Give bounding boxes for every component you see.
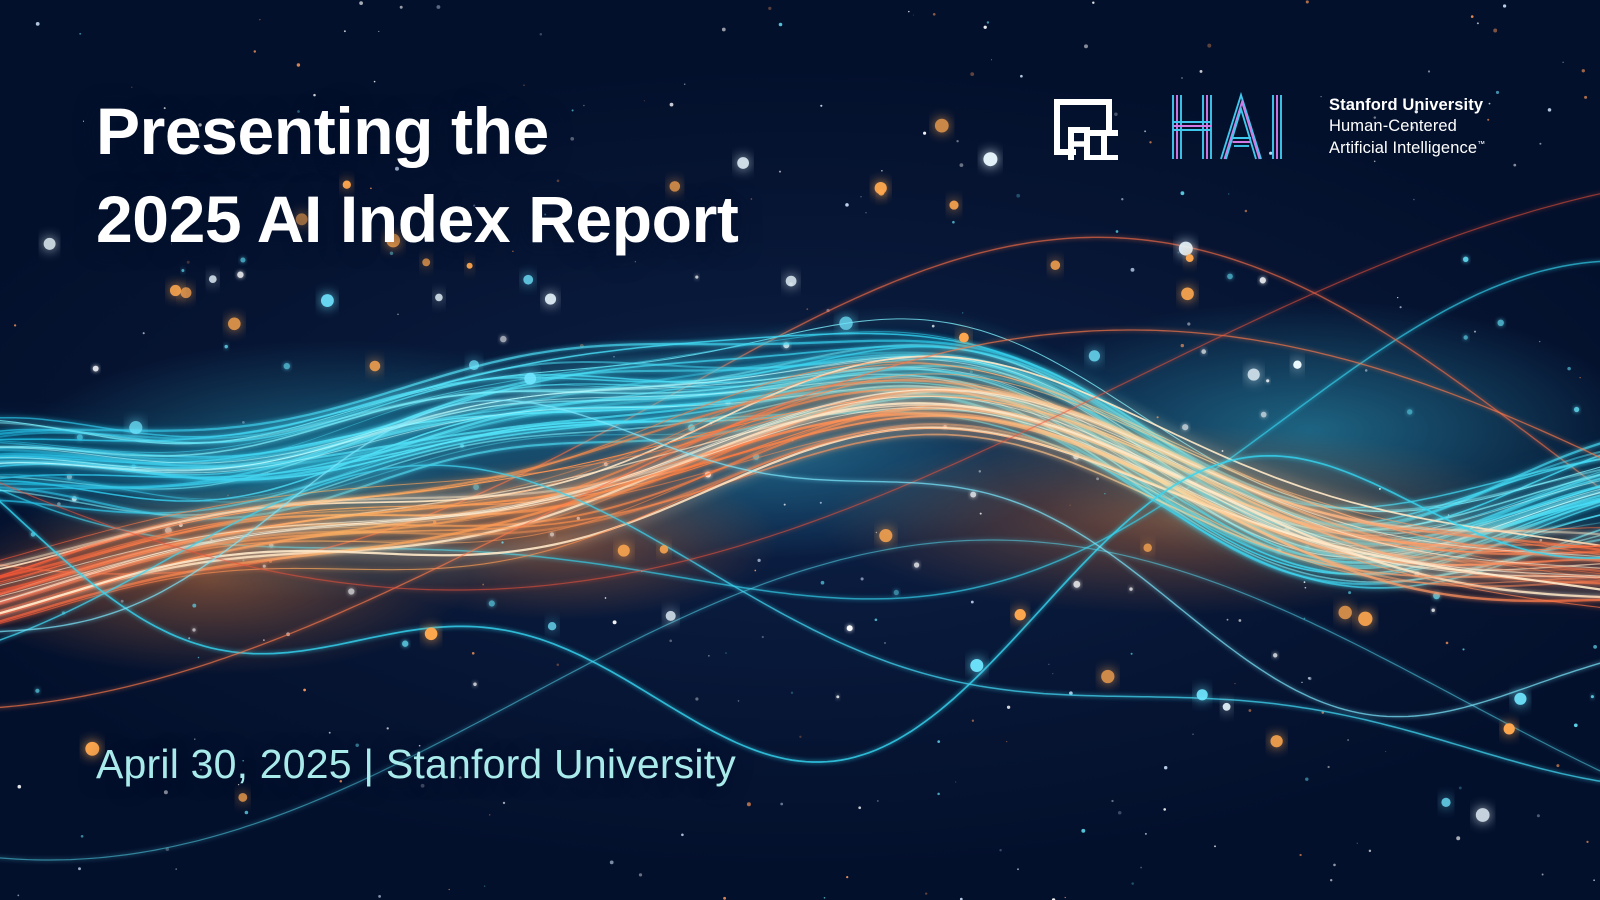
hai-logo[interactable] (1165, 91, 1313, 163)
event-dateline: April 30, 2025 | Stanford University (96, 741, 736, 788)
ai-index-logo[interactable] (1047, 94, 1119, 160)
stanford-line-3-text: Artificial Intelligence (1329, 139, 1477, 157)
logo-lockup: Stanford University Human-Centered Artif… (1047, 88, 1485, 166)
stanford-line-3: Artificial Intelligence™ (1329, 138, 1485, 159)
stanford-line-1: Stanford University (1329, 95, 1485, 116)
stanford-line-2: Human-Centered (1329, 116, 1485, 137)
headline-line-2: 2025 AI Index Report (96, 176, 738, 264)
stanford-hai-wordmark: Stanford University Human-Centered Artif… (1329, 95, 1485, 159)
slide-canvas: Presenting the 2025 AI Index Report Apri… (0, 0, 1600, 900)
page-title: Presenting the 2025 AI Index Report (96, 88, 738, 264)
headline-line-1: Presenting the (96, 94, 549, 168)
trademark-icon: ™ (1477, 139, 1485, 148)
